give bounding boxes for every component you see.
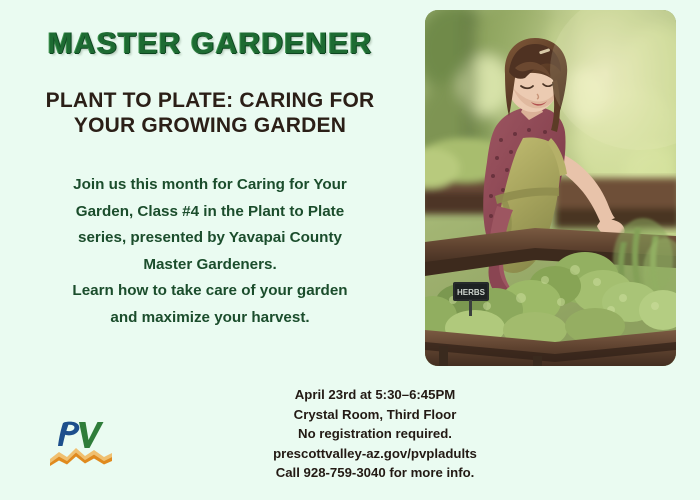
- logo-letter-v: [79, 422, 104, 448]
- photo-background-bed-right: [555, 178, 676, 228]
- flyer-canvas: MASTER GARDENER PLANT TO PLATE: CARING F…: [0, 0, 700, 500]
- page-title: MASTER GARDENER: [0, 27, 420, 61]
- photo-plant-label-text: HERBS: [457, 288, 486, 297]
- event-description: Join us this month for Caring for Your G…: [18, 172, 402, 331]
- website-link[interactable]: prescottvalley-az.gov/pvpladults: [225, 444, 525, 464]
- description-line-3: series, presented by Yavapai County: [18, 225, 402, 252]
- description-line-6: and maximize your harvest.: [18, 305, 402, 332]
- description-line-4: Master Gardeners.: [18, 252, 402, 279]
- event-date-time: April 23rd at 5:30–6:45PM: [225, 385, 525, 405]
- event-details-block: April 23rd at 5:30–6:45PM Crystal Room, …: [225, 385, 525, 483]
- logo-mountains: [50, 448, 112, 466]
- registration-note: No registration required.: [225, 424, 525, 444]
- event-photo: HERBS: [425, 10, 676, 366]
- subtitle-line-2: YOUR GROWING GARDEN: [8, 113, 412, 138]
- event-location: Crystal Room, Third Floor: [225, 405, 525, 425]
- pv-logo-icon: [48, 416, 114, 468]
- subtitle-line-1: PLANT TO PLATE: CARING FOR: [46, 89, 375, 112]
- description-line-1: Join us this month for Caring for Your: [18, 172, 402, 199]
- gardener-photo-illustration: HERBS: [425, 10, 676, 366]
- description-line-5: Learn how to take care of your garden: [18, 278, 402, 305]
- pv-logo: [48, 416, 114, 468]
- phone-number: Call 928-759-3040 for more info.: [225, 463, 525, 483]
- description-line-2: Garden, Class #4 in the Plant to Plate: [18, 199, 402, 226]
- event-subtitle: PLANT TO PLATE: CARING FOR YOUR GROWING …: [8, 88, 412, 138]
- logo-letter-p: [58, 422, 79, 446]
